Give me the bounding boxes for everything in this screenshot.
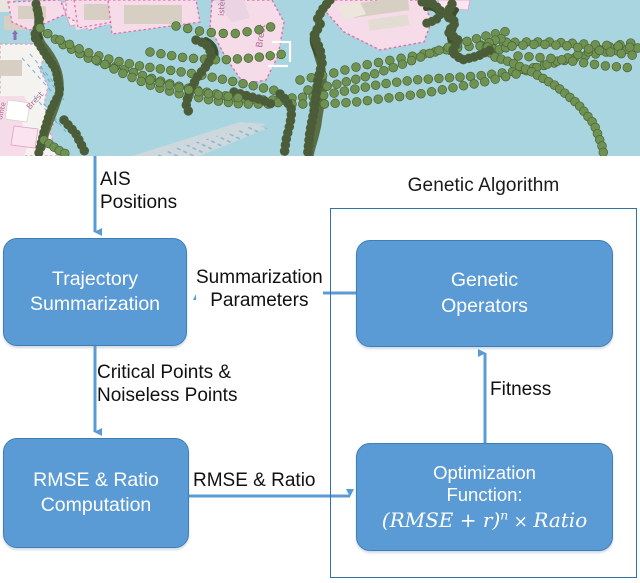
node-line: RMSE & Ratio <box>33 468 159 493</box>
node-line: Optimization <box>433 462 536 485</box>
edge-label-critical-noiseless: Critical Points & Noiseless Points <box>97 361 237 407</box>
edge-label-ais-positions: AIS Positions <box>100 168 177 214</box>
node-rmse-ratio-computation[interactable]: RMSE & Ratio Computation <box>3 438 189 548</box>
ais-trajectory-map: ointe Brest <box>0 0 640 156</box>
edge-label-line: Positions <box>100 191 177 214</box>
node-line: Computation <box>41 493 152 518</box>
node-optimization-function[interactable]: Optimization Function: (RMSE + r)n × Rat… <box>356 443 613 551</box>
edge-label-line: Summarization <box>196 266 323 289</box>
formula-rmse: RMSE <box>390 508 454 532</box>
edge-label-line: Fitness <box>490 378 551 401</box>
node-genetic-operators[interactable]: Genetic Operators <box>356 240 613 347</box>
formula-ratio: Ratio <box>533 508 587 532</box>
edge-label-line: RMSE & Ratio <box>193 469 315 492</box>
node-trajectory-summarization[interactable]: Trajectory Summarization <box>3 238 187 346</box>
optimization-formula: (RMSE + r)n × Ratio <box>382 508 587 533</box>
edge-label-line: AIS <box>100 168 177 191</box>
edge-label-line: Critical Points & <box>97 361 237 384</box>
formula-plus: + <box>453 508 482 532</box>
edge-label-summarization-parameters: Summarization Parameters <box>196 266 323 312</box>
map-place-label: istère <box>216 0 227 16</box>
node-line: Operators <box>441 294 528 319</box>
pipeline-flowchart: Genetic Algorithm Trajectory Summarizati… <box>0 156 640 583</box>
edge-label-line: Noiseless Points <box>97 384 237 407</box>
genetic-algorithm-caption: Genetic Algorithm <box>330 175 637 197</box>
edge-label-fitness: Fitness <box>490 378 551 401</box>
formula-open: ( <box>382 508 390 532</box>
map-canvas: ointe Brest <box>0 0 640 156</box>
edge-label-line: Parameters <box>196 289 323 312</box>
edge-label-rmse-ratio: RMSE & Ratio <box>193 469 315 492</box>
node-line: Summarization <box>30 292 160 317</box>
node-line: Trajectory <box>52 267 138 292</box>
formula-times: × <box>508 512 533 532</box>
node-line: Genetic <box>451 268 518 293</box>
figure-root: ointe Brest <box>0 0 640 583</box>
node-line: Function: <box>446 484 522 507</box>
